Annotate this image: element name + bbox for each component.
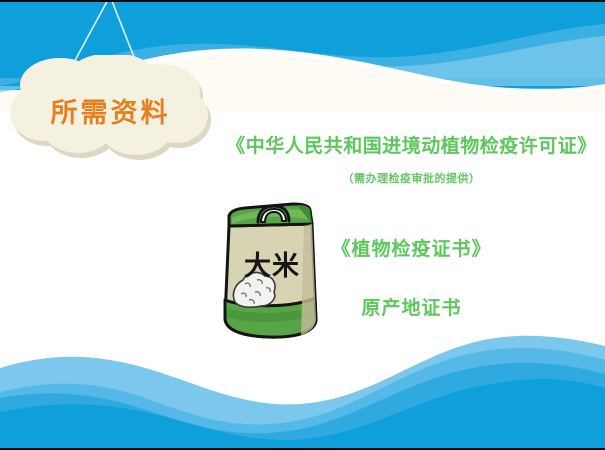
requirement-certificate-of-origin: 原产地证书 xyxy=(218,295,605,321)
requirement-import-quarantine-permit: 《中华人民共和国进境动植物检疫许可证》 xyxy=(218,133,605,159)
badge-label-wrapper: 所需资料 xyxy=(8,55,213,173)
top-edge-border xyxy=(0,0,605,2)
requirement-permit-note: （需办理检疫审批的提供） xyxy=(218,171,605,186)
slide-canvas: 所需资料 xyxy=(0,0,605,450)
requirements-text-block: 《中华人民共和国进境动植物检疫许可证》 （需办理检疫审批的提供） 《植物检疫证书… xyxy=(218,133,605,321)
requirement-phytosanitary-certificate: 《植物检疫证书》 xyxy=(218,236,605,262)
badge-label: 所需资料 xyxy=(51,91,171,130)
cloud-badge: 所需资料 xyxy=(8,55,213,173)
